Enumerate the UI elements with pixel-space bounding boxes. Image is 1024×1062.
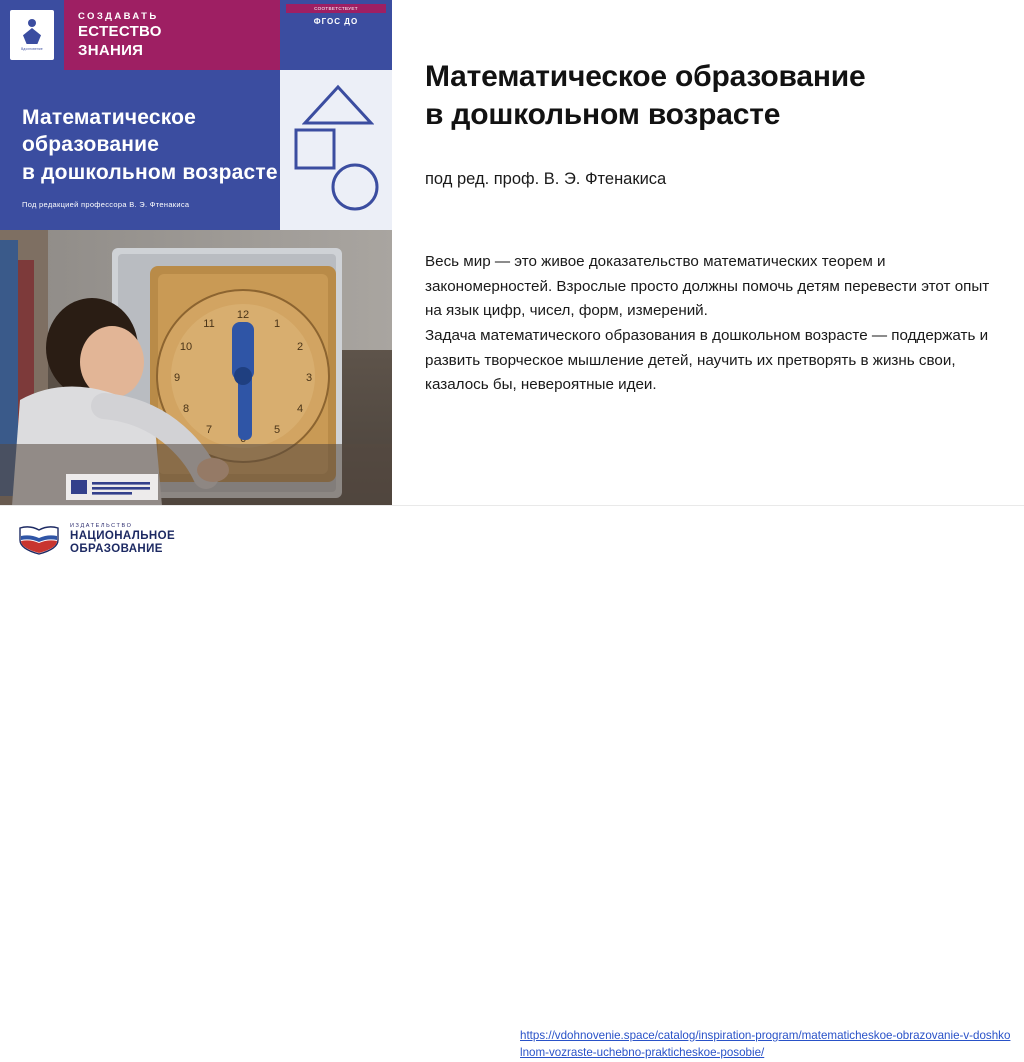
cover-banner: СОЗДАВАТЬ ЕСТЕСТВО ЗНАНИЯ (64, 0, 280, 70)
circle-icon (330, 162, 380, 212)
russian-flag-icon (18, 525, 60, 555)
svg-text:2: 2 (297, 341, 303, 353)
logo-caption: Вдохновение (21, 47, 43, 51)
svg-text:5: 5 (274, 424, 280, 436)
cover-header-band: Вдохновение СОЗДАВАТЬ ЕСТЕСТВО ЗНАНИЯ СО… (0, 0, 392, 70)
svg-text:11: 11 (203, 318, 214, 330)
page-subtitle: под ред. проф. В. Э. Фтенакиса (425, 168, 1005, 191)
cover-title: Математическое образование в дошкольном … (22, 104, 278, 186)
triangle-icon (302, 84, 374, 126)
svg-text:10: 10 (180, 341, 192, 353)
svg-text:7: 7 (206, 424, 212, 436)
fgos-compliance-label: СООТВЕТСТВУЕТ (286, 4, 386, 13)
inspiration-logo: Вдохновение (10, 10, 54, 60)
catalog-link[interactable]: https://vdohnovenie.space/catalog/inspir… (520, 1028, 1012, 1062)
content-panel: Математическое образование в дошкольном … (420, 0, 1024, 506)
cover-publisher-badge (66, 474, 158, 500)
svg-text:3: 3 (306, 372, 312, 384)
paragraph-2: Задача математического образования в дош… (425, 324, 995, 398)
page-title: Математическое образование в дошкольном … (425, 58, 1005, 135)
svg-text:9: 9 (174, 372, 180, 384)
publisher-logo: ИЗДАТЕЛЬСТВО НАЦИОНАЛЬНОЕ ОБРАЗОВАНИЕ (18, 516, 318, 564)
footer: ИЗДАТЕЛЬСТВО НАЦИОНАЛЬНОЕ ОБРАЗОВАНИЕ ht… (0, 506, 1024, 574)
banner-line-2: ЕСТЕСТВО (78, 23, 162, 42)
book-cover-image: Вдохновение СОЗДАВАТЬ ЕСТЕСТВО ЗНАНИЯ СО… (0, 0, 392, 506)
publisher-name-1: НАЦИОНАЛЬНОЕ (70, 530, 175, 544)
slide: Вдохновение СОЗДАВАТЬ ЕСТЕСТВО ЗНАНИЯ СО… (0, 0, 1024, 574)
body-text: Весь мир — это живое доказательство мате… (425, 250, 995, 398)
cover-fgos-block: СООТВЕТСТВУЕТ ФГОС ДО (280, 0, 392, 70)
cover-title-band: Математическое образование в дошкольном … (0, 70, 392, 230)
svg-text:4: 4 (297, 403, 303, 415)
logo-figure-icon (23, 19, 41, 45)
fgos-badge: ФГОС ДО (286, 17, 386, 26)
publisher-name-2: ОБРАЗОВАНИЕ (70, 543, 175, 557)
photo-child-with-clock: 1212 345 678 91011 (0, 230, 392, 506)
cover-editor: Под редакцией профессора В. Э. Фтенакиса (22, 200, 189, 209)
svg-text:8: 8 (183, 403, 189, 415)
svg-text:12: 12 (237, 309, 249, 321)
svg-text:1: 1 (274, 318, 280, 330)
cover-publisher-block: Вдохновение (0, 0, 64, 70)
publisher-label: ИЗДАТЕЛЬСТВО (70, 523, 175, 530)
banner-line-1: СОЗДАВАТЬ (78, 10, 162, 23)
cover-photograph: 1212 345 678 91011 (0, 230, 392, 506)
cover-shapes-panel (280, 70, 392, 230)
banner-line-3: ЗНАНИЯ (78, 42, 162, 61)
paragraph-1: Весь мир — это живое доказательство мате… (425, 250, 995, 324)
